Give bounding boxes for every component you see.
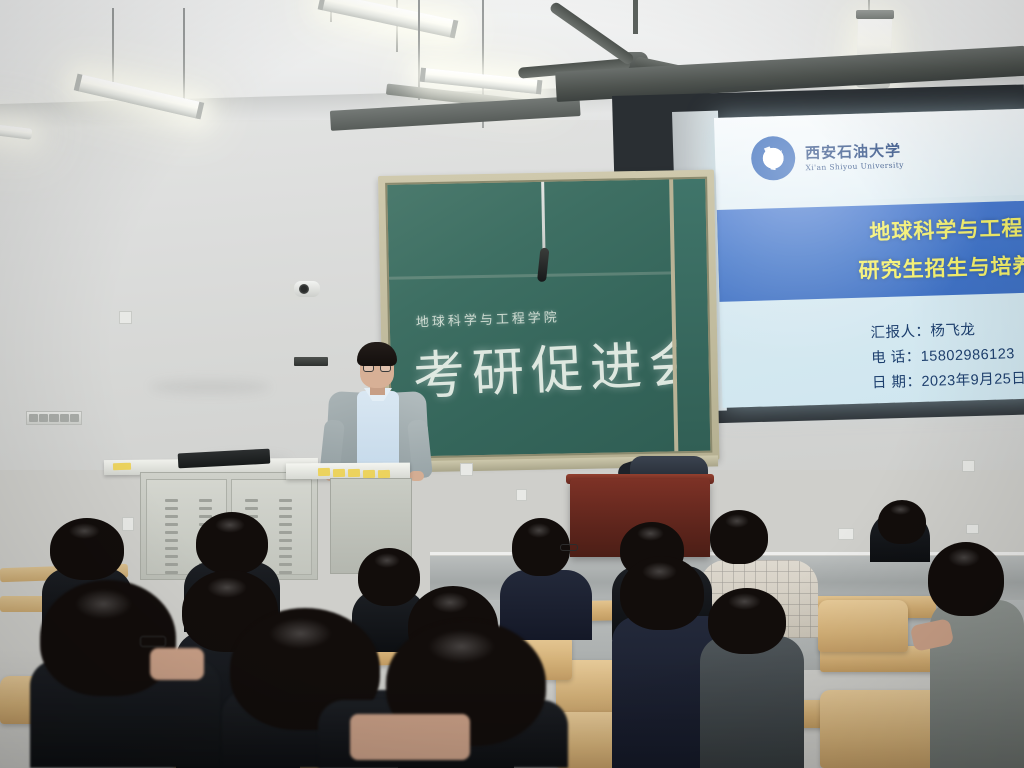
cabinet-vents	[165, 499, 178, 574]
student-head	[708, 588, 786, 654]
light-cord	[112, 8, 114, 84]
hanging-cord	[541, 177, 545, 254]
blackboard-text-large: 考研促进会	[411, 321, 709, 410]
blackboard-text-small: 地球科学与工程学院	[415, 306, 560, 330]
projector-slide: 西安石油大学 Xi'an Shiyou University 地球科学与工程学院…	[714, 108, 1024, 407]
light-cord	[418, 0, 420, 100]
eyeglasses-icon	[560, 544, 578, 551]
eyeglasses-icon	[140, 636, 166, 647]
wall-switch[interactable]	[962, 460, 975, 472]
light-cord	[183, 8, 185, 108]
student-head	[50, 518, 124, 580]
blackboard-side-panel	[669, 179, 710, 452]
wall-switch[interactable]	[966, 524, 979, 534]
wall-switch[interactable]	[516, 489, 527, 501]
student-head	[878, 500, 926, 544]
university-name-en: Xi'an Shiyou University	[805, 160, 904, 172]
camera-lens-icon	[299, 284, 309, 294]
university-logo: 西安石油大学 Xi'an Shiyou University	[751, 132, 905, 181]
student-hands	[350, 714, 470, 760]
outlet-bank[interactable]	[26, 411, 82, 425]
student-head	[928, 542, 1004, 616]
student-head	[710, 510, 768, 564]
cabinet-vents	[279, 499, 292, 574]
sticky-note[interactable]	[363, 470, 375, 478]
hanging-microphone-icon	[537, 247, 549, 282]
light-housing	[856, 10, 894, 19]
wall-switch[interactable]	[122, 517, 134, 531]
student-hand	[150, 648, 204, 680]
sticky-note[interactable]	[378, 470, 390, 478]
wall-switch[interactable]	[460, 463, 473, 476]
student-head	[358, 548, 420, 606]
wall-mounted-bracket	[294, 357, 328, 366]
slide-meta-date: 日 期：2023年9月25日	[872, 367, 1024, 397]
wall-switch[interactable]	[119, 311, 132, 324]
classroom-photo: 西安石油大学 Xi'an Shiyou University 地球科学与工程学院…	[0, 0, 1024, 768]
wall-switch[interactable]	[838, 528, 854, 540]
wall-smudge	[150, 380, 270, 394]
student-head	[620, 556, 704, 630]
student-chair[interactable]	[818, 600, 908, 652]
student-head	[196, 512, 268, 574]
sticky-note[interactable]	[348, 469, 360, 477]
blackboard-surface: 地球科学与工程学院 考研促进会	[385, 177, 712, 459]
sticky-note[interactable]	[113, 463, 131, 471]
fan-rod	[633, 0, 638, 34]
presenter-shirt	[357, 391, 399, 473]
blackboard-rail	[389, 271, 707, 280]
student-body	[500, 570, 592, 640]
student-body	[700, 636, 804, 768]
university-seal-icon	[751, 136, 796, 181]
university-name-cn: 西安石油大学	[805, 139, 904, 163]
sticky-note[interactable]	[333, 469, 345, 477]
sticky-note[interactable]	[318, 468, 330, 476]
presenter-hair	[357, 342, 397, 366]
slide-meta-block: 汇报人：杨飞龙 电 话：15802986123 日 期：2023年9月25日	[870, 317, 1024, 397]
blackboard: 地球科学与工程学院 考研促进会	[378, 170, 720, 466]
